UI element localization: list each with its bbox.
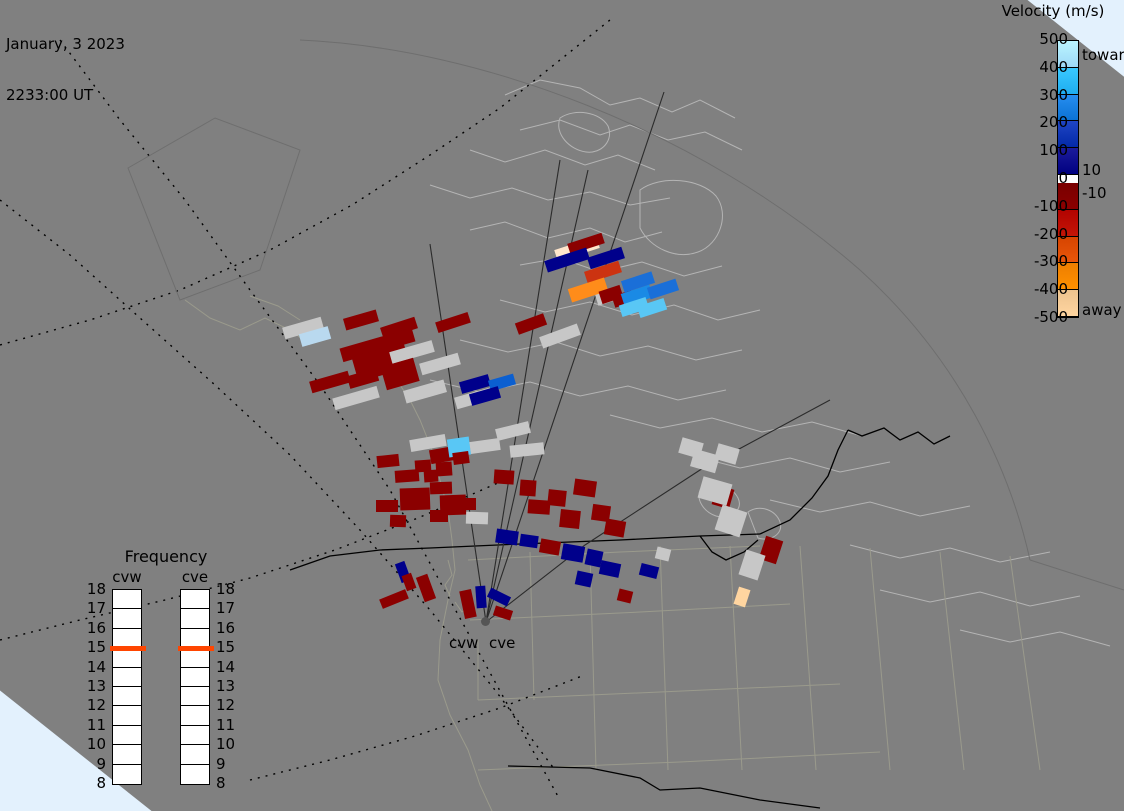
frequency-scale-value: 13 bbox=[84, 679, 106, 694]
radar-cell bbox=[573, 479, 597, 498]
radar-cell bbox=[575, 570, 594, 587]
screenshot-root: cvw cve January, 3 2023 2233:00 UT Veloc… bbox=[0, 0, 1124, 811]
frequency-scale-value: 15 bbox=[84, 640, 106, 655]
frequency-segment bbox=[181, 726, 209, 745]
radar-cell bbox=[400, 487, 431, 510]
colorbar-tick-0: 0 bbox=[1010, 171, 1068, 186]
radar-cell bbox=[519, 479, 536, 496]
radar-cell bbox=[390, 515, 406, 528]
frequency-segment bbox=[113, 590, 141, 609]
frequency-scale-value: 13 bbox=[216, 679, 238, 694]
radar-cell bbox=[430, 482, 452, 495]
frequency-scale-value: 8 bbox=[216, 776, 238, 791]
frequency-scale-value: 15 bbox=[216, 640, 238, 655]
radar-cell bbox=[436, 461, 453, 476]
frequency-segment bbox=[113, 687, 141, 706]
frequency-bar-cve bbox=[180, 589, 210, 785]
frequency-segment bbox=[113, 609, 141, 628]
radar-cell bbox=[494, 469, 515, 484]
frequency-scale-value: 10 bbox=[84, 737, 106, 752]
frequency-marker-cvw bbox=[110, 646, 146, 651]
frequency-segment bbox=[181, 590, 209, 609]
frequency-bar-cvw bbox=[112, 589, 142, 785]
frequency-segment bbox=[113, 706, 141, 725]
radar-cell bbox=[376, 500, 398, 512]
colorbar-tick--500: -500 bbox=[1010, 310, 1068, 325]
radar-cell bbox=[430, 510, 448, 522]
frequency-segment bbox=[181, 706, 209, 725]
frequency-scale-value: 18 bbox=[84, 582, 106, 597]
date-text: January, 3 2023 bbox=[6, 36, 125, 53]
frequency-segment bbox=[113, 668, 141, 687]
frequency-scale-value: 9 bbox=[84, 757, 106, 772]
colorbar-label-toward: toward bbox=[1082, 48, 1124, 63]
frequency-scale-value: 8 bbox=[84, 776, 106, 791]
colorbar-title: Velocity (m/s) bbox=[982, 2, 1124, 20]
radar-cell bbox=[466, 512, 488, 525]
radar-cell bbox=[475, 586, 487, 609]
colorbar-tick-400: 400 bbox=[1010, 60, 1068, 75]
frequency-segment bbox=[113, 765, 141, 784]
colorbar-tick--200: -200 bbox=[1010, 227, 1068, 242]
frequency-scale-value: 16 bbox=[216, 621, 238, 636]
frequency-scale-value: 17 bbox=[216, 601, 238, 616]
site-label-cvw: cvw bbox=[449, 634, 478, 652]
frequency-legend-title: Frequency bbox=[96, 547, 236, 566]
frequency-segment bbox=[181, 609, 209, 628]
frequency-scale-value: 17 bbox=[84, 601, 106, 616]
frequency-marker-cve bbox=[178, 646, 214, 651]
colorbar-label-negative-threshold: -10 bbox=[1082, 186, 1107, 201]
velocity-colorbar: Velocity (m/s) 5004003002001000-100-200-… bbox=[982, 0, 1124, 340]
colorbar-tick--300: -300 bbox=[1010, 254, 1068, 269]
radar-cell bbox=[495, 529, 519, 546]
frequency-scale-value: 14 bbox=[216, 660, 238, 675]
frequency-scale-value: 14 bbox=[84, 660, 106, 675]
radar-cell bbox=[559, 509, 581, 529]
radar-cell bbox=[604, 518, 626, 537]
colorbar-tick-100: 100 bbox=[1010, 143, 1068, 158]
frequency-scale-value: 12 bbox=[84, 698, 106, 713]
frequency-segment bbox=[113, 726, 141, 745]
frequency-segment bbox=[181, 687, 209, 706]
frequency-scale-value: 11 bbox=[84, 718, 106, 733]
site-label-cve: cve bbox=[489, 634, 515, 652]
frequency-scale-value: 11 bbox=[216, 718, 238, 733]
colorbar-tick-300: 300 bbox=[1010, 88, 1068, 103]
radar-cell bbox=[460, 498, 476, 510]
frequency-scale-value: 18 bbox=[216, 582, 238, 597]
colorbar-tick-200: 200 bbox=[1010, 115, 1068, 130]
frequency-scale-value: 12 bbox=[216, 698, 238, 713]
frequency-scale-value: 9 bbox=[216, 757, 238, 772]
timestamp-block: January, 3 2023 2233:00 UT bbox=[6, 2, 125, 138]
radar-cell bbox=[452, 451, 470, 465]
colorbar-tick--100: -100 bbox=[1010, 199, 1068, 214]
time-text: 2233:00 UT bbox=[6, 87, 125, 104]
frequency-segment bbox=[181, 745, 209, 764]
frequency-scale-value: 16 bbox=[84, 621, 106, 636]
radar-cell bbox=[519, 534, 538, 548]
radar-cell bbox=[547, 489, 567, 507]
frequency-column-label-cvw: cvw bbox=[104, 568, 150, 586]
frequency-segment bbox=[181, 765, 209, 784]
frequency-segment bbox=[181, 668, 209, 687]
radar-cell bbox=[376, 454, 399, 468]
colorbar-tick--400: -400 bbox=[1010, 282, 1068, 297]
frequency-segment bbox=[113, 745, 141, 764]
colorbar-tick-500: 500 bbox=[1010, 32, 1068, 47]
colorbar-label-away: away bbox=[1082, 303, 1122, 318]
colorbar-label-positive-threshold: 10 bbox=[1082, 163, 1101, 178]
frequency-legend: Frequency cvw cve 18171615141312111098 1… bbox=[96, 547, 236, 787]
frequency-scale-value: 10 bbox=[216, 737, 238, 752]
radar-site-marker bbox=[481, 617, 490, 626]
frequency-column-label-cve: cve bbox=[172, 568, 218, 586]
